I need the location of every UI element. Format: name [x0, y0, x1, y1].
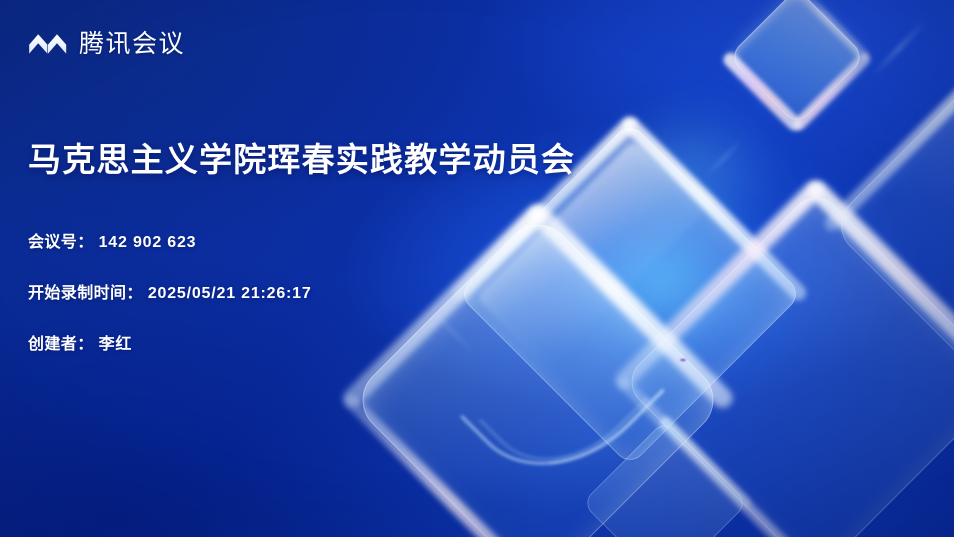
- tencent-meeting-logo-icon: [28, 30, 68, 58]
- recording-start-time-row: 开始录制时间： 2025/05/21 21:26:17: [28, 279, 312, 303]
- page-title: 马克思主义学院珲春实践教学动员会: [28, 140, 575, 180]
- recording-start-time-value: 2025/05/21 21:26:17: [148, 285, 312, 303]
- brand-logo: 腾讯会议: [28, 30, 185, 58]
- meeting-number-label: 会议号：: [28, 228, 94, 252]
- brand-logo-text: 腾讯会议: [79, 32, 185, 57]
- recording-start-time-label: 开始录制时间：: [28, 279, 143, 303]
- creator-label: 创建者：: [28, 330, 94, 354]
- recording-cover-screen: 腾讯会议 马克思主义学院珲春实践教学动员会 会议号： 142 902 623 开…: [0, 0, 954, 537]
- meeting-meta-list: 会议号： 142 902 623 开始录制时间： 2025/05/21 21:2…: [28, 228, 312, 354]
- creator-row: 创建者： 李红: [28, 330, 312, 354]
- meeting-number-row: 会议号： 142 902 623: [28, 228, 312, 252]
- meeting-number-value: 142 902 623: [99, 234, 197, 252]
- creator-value: 李红: [99, 330, 133, 354]
- prism-spark-icon: [679, 358, 687, 362]
